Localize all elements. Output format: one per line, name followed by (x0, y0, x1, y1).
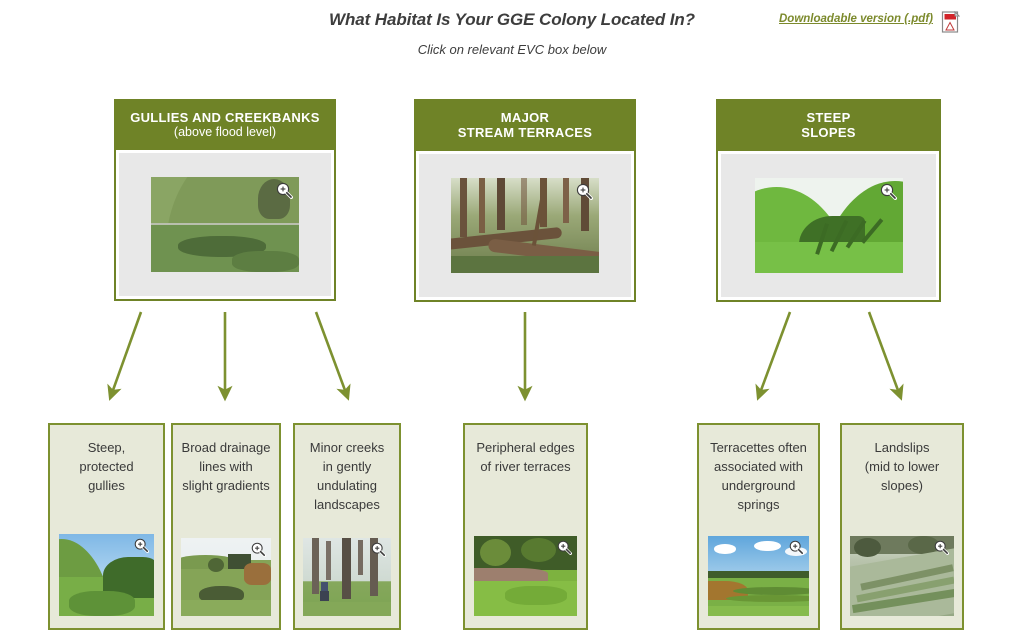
habitat-card-peripheral-edges[interactable]: Peripheral edges of river terraces (463, 423, 588, 630)
evc-photo-steep-slopes[interactable] (755, 178, 903, 273)
habitat-photo-panel (842, 536, 962, 628)
habitat-card-label: Steep, protected gullies (71, 425, 141, 496)
habitat-photo-landslip[interactable] (850, 536, 954, 616)
downloadable-pdf-link[interactable]: Downloadable version (.pdf) (779, 13, 933, 25)
evc-title-line2: STREAM TERRACES (422, 125, 628, 140)
habitat-photo-panel (465, 536, 586, 628)
arrow-steep-slopes-to-landslips (869, 312, 899, 393)
evc-card-header: STEEP SLOPES (718, 101, 939, 151)
habitat-card-minor-creeks[interactable]: Minor creeks in gently undulating landsc… (293, 423, 401, 630)
habitat-card-label: Peripheral edges of river terraces (468, 425, 582, 477)
habitat-card-label: Terracettes often associated with underg… (702, 425, 815, 514)
habitat-photo-broad-drainage[interactable] (181, 538, 271, 616)
habitat-photo-steep-gully[interactable] (59, 534, 154, 616)
habitat-card-label: Landslips (mid to lower slopes) (857, 425, 947, 496)
arrow-gullies-to-steep-protected (112, 312, 141, 393)
evc-title-line1: MAJOR (422, 110, 628, 125)
habitat-card-label: Broad drainage lines with slight gradien… (174, 425, 279, 496)
evc-photo-stream-terraces[interactable] (451, 178, 599, 273)
arrow-gullies-to-minor-creeks (316, 312, 346, 393)
habitat-photo-panel (699, 536, 818, 628)
magnifier-plus-icon[interactable] (880, 183, 897, 200)
habitat-photo-terracettes[interactable] (708, 536, 809, 616)
habitat-photo-river-terrace[interactable] (474, 536, 577, 616)
evc-title-line2: SLOPES (724, 125, 933, 140)
evc-title-line1: STEEP (724, 110, 933, 125)
evc-card-gullies-and-creekbanks[interactable]: GULLIES AND CREEKBANKS (above flood leve… (114, 99, 336, 301)
page-subtitle: Click on relevant EVC box below (0, 42, 1024, 57)
habitat-card-label: Minor creeks in gently undulating landsc… (302, 425, 392, 514)
habitat-photo-panel (50, 534, 163, 628)
pdf-file-icon[interactable] (941, 11, 960, 34)
habitat-card-terracettes[interactable]: Terracettes often associated with underg… (697, 423, 820, 630)
habitat-card-landslips[interactable]: Landslips (mid to lower slopes) (840, 423, 964, 630)
magnifier-plus-icon[interactable] (134, 538, 149, 553)
evc-card-major-stream-terraces[interactable]: MAJOR STREAM TERRACES (414, 99, 636, 302)
magnifier-plus-icon[interactable] (276, 182, 293, 199)
magnifier-plus-icon[interactable] (251, 542, 266, 557)
evc-card-steep-slopes[interactable]: STEEP SLOPES (716, 99, 941, 302)
habitat-card-broad-drainage-lines[interactable]: Broad drainage lines with slight gradien… (171, 423, 281, 630)
habitat-card-steep-protected-gullies[interactable]: Steep, protected gullies (48, 423, 165, 630)
habitat-photo-panel (295, 538, 399, 628)
magnifier-plus-icon[interactable] (371, 542, 386, 557)
habitat-diagram-page: What Habitat Is Your GGE Colony Located … (0, 0, 1024, 635)
evc-card-header: GULLIES AND CREEKBANKS (above flood leve… (116, 101, 334, 150)
evc-photo-panel (419, 154, 631, 297)
habitat-photo-panel (173, 538, 279, 628)
magnifier-plus-icon[interactable] (789, 540, 804, 555)
arrow-steep-slopes-to-terracettes (760, 312, 790, 393)
magnifier-plus-icon[interactable] (576, 183, 593, 200)
evc-card-header: MAJOR STREAM TERRACES (416, 101, 634, 151)
evc-title-line1: GULLIES AND CREEKBANKS (122, 110, 328, 125)
magnifier-plus-icon[interactable] (934, 540, 949, 555)
evc-title-line2: (above flood level) (122, 125, 328, 140)
habitat-photo-minor-creek[interactable] (303, 538, 391, 616)
evc-photo-panel (119, 153, 331, 296)
evc-photo-gullies[interactable] (151, 177, 299, 272)
magnifier-plus-icon[interactable] (557, 540, 572, 555)
evc-photo-panel (721, 154, 936, 297)
